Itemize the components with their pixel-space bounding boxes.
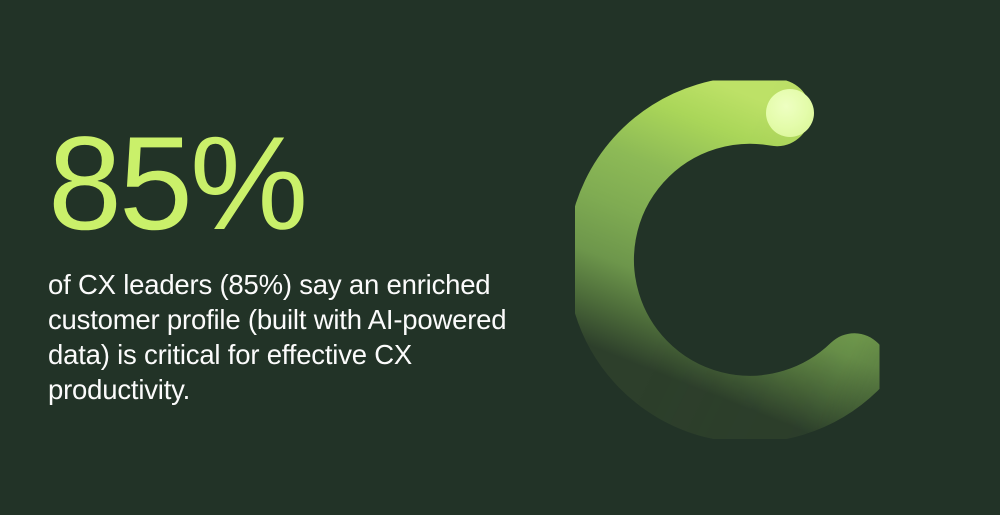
progress-ring-arc xyxy=(600,110,854,409)
progress-ring-graphic xyxy=(548,38,968,483)
stat-text-block: 85% of CX leaders (85%) say an enriched … xyxy=(48,118,548,407)
progress-ring-end-dot xyxy=(766,89,814,137)
stat-percentage-value: 85% xyxy=(48,118,548,251)
stat-description-text: of CX leaders (85%) say an enriched cust… xyxy=(48,267,523,407)
stat-infographic-card: 85% of CX leaders (85%) say an enriched … xyxy=(0,0,1000,515)
